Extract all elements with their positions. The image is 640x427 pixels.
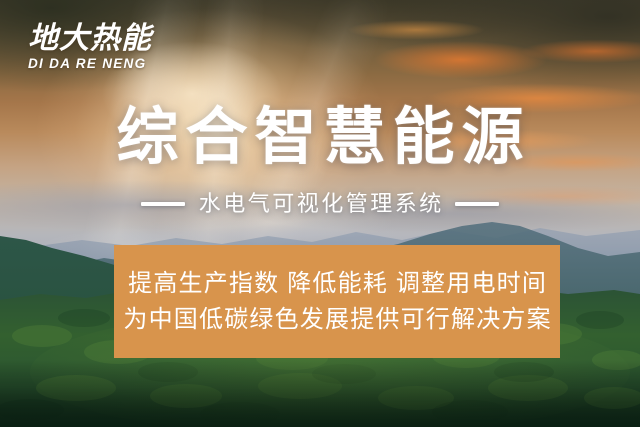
page-subtitle: 水电气可视化管理系统: [196, 192, 444, 216]
brand-logo-pinyin: DI DA RE NENG: [28, 57, 178, 71]
brand-logo: 地大热能 DI DA RE NENG: [28, 24, 178, 71]
callout-box: 提高生产指数 降低能耗 调整用电时间 为中国低碳绿色发展提供可行解决方案: [114, 245, 560, 358]
poster-root: 地大热能 DI DA RE NENG 综合智慧能源 水电气可视化管理系统 提高生…: [0, 0, 640, 427]
dash-right-icon: [455, 202, 499, 206]
brand-logo-chinese: 地大热能: [28, 24, 178, 54]
subtitle-row: 水电气可视化管理系统: [0, 192, 640, 216]
callout-line-1: 提高生产指数 降低能耗 调整用电时间: [127, 270, 547, 298]
page-title: 综合智慧能源: [0, 104, 640, 172]
dash-left-icon: [141, 202, 185, 206]
callout-line-2: 为中国低碳绿色发展提供可行解决方案: [122, 306, 552, 334]
